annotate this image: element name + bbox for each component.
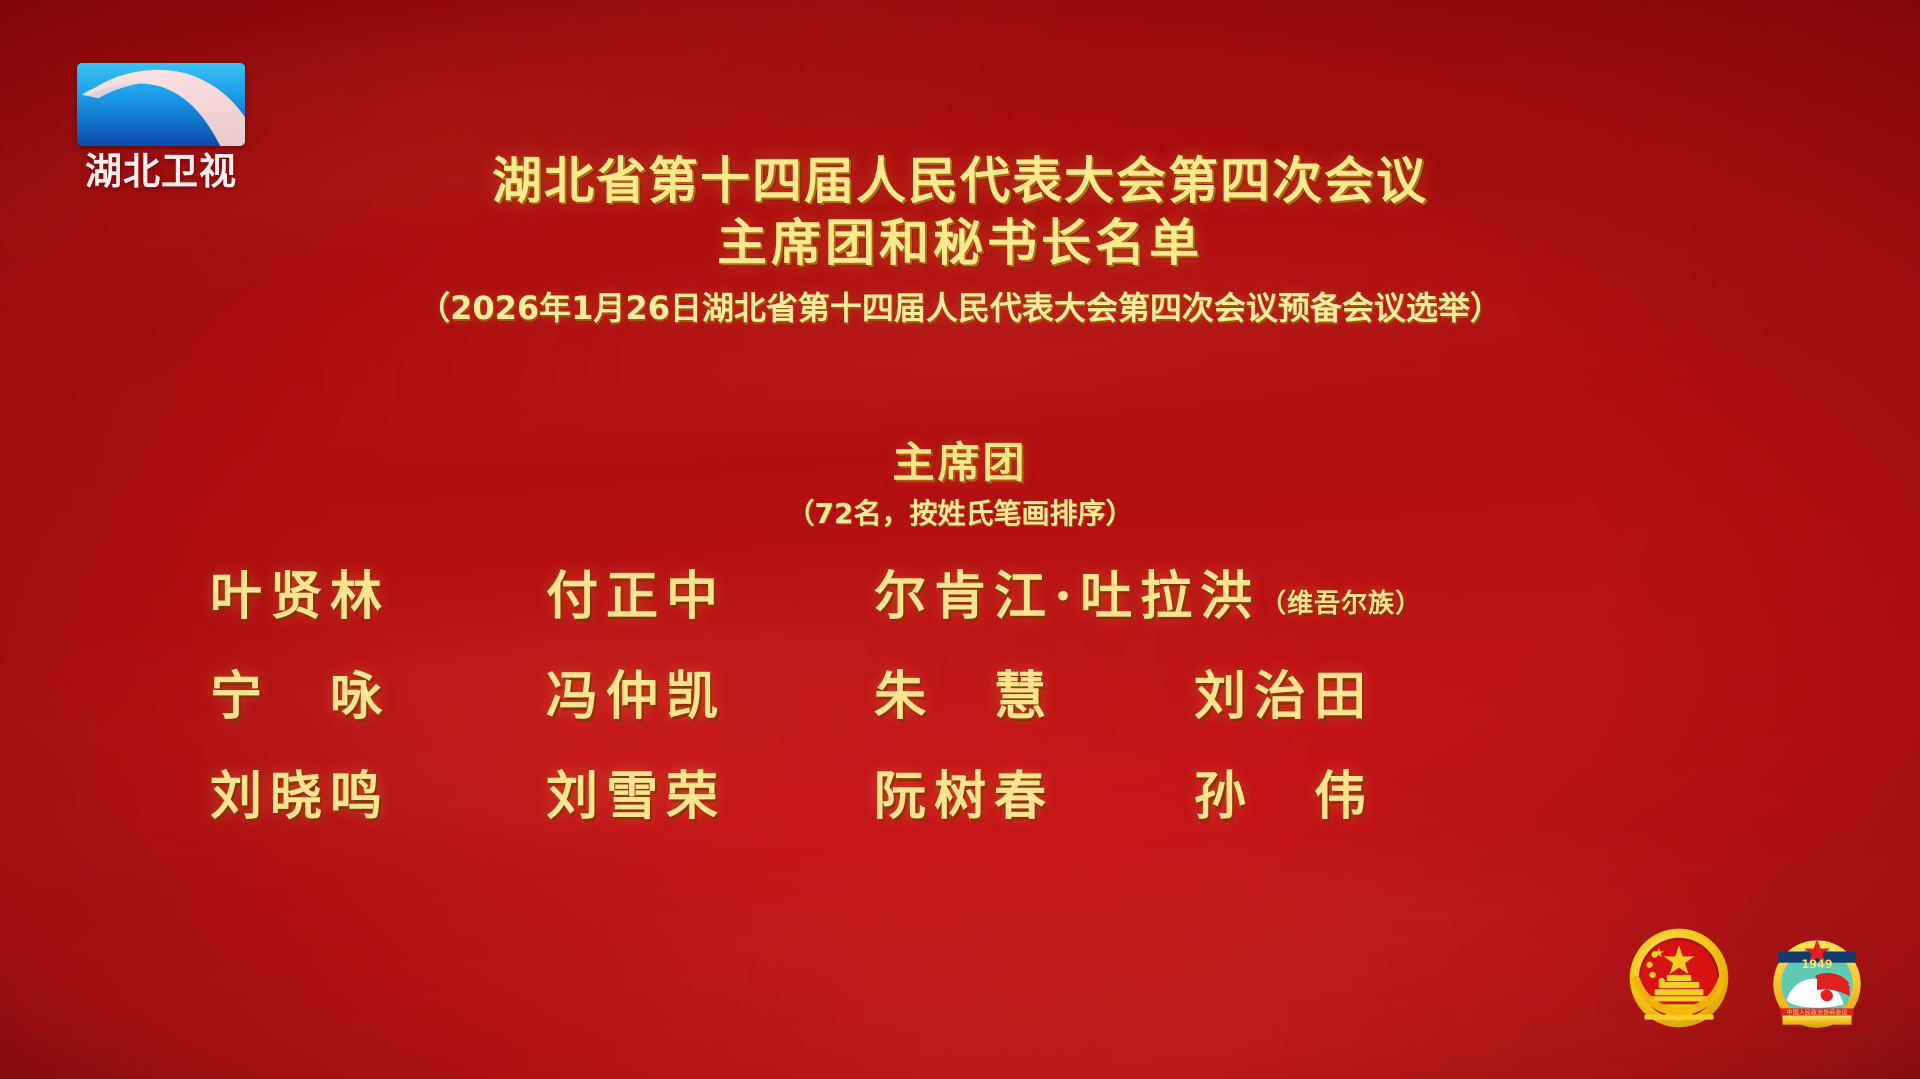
svg-text:1949: 1949 — [1801, 958, 1832, 971]
roster-name-text: 付正中 — [546, 566, 726, 627]
roster-name: 阮树春 — [874, 760, 1054, 834]
roster-name: 刘雪荣 — [546, 760, 726, 834]
section-heading-block: 主席团 （72名，按姓氏笔画排序） — [0, 438, 1920, 532]
roster-name: 宁 咏 — [210, 660, 390, 734]
roster-name-text: 刘治田 — [1194, 666, 1374, 727]
hubei-tv-river-logo-icon — [77, 63, 245, 146]
roster-row: 宁 咏冯仲凯朱 慧刘治田 — [210, 660, 1730, 760]
roster-name-text: 宁 咏 — [210, 666, 390, 727]
roster-name-text: 朱 慧 — [874, 666, 1054, 727]
broadcast-screen: 湖北卫视 湖北省第十四届人民代表大会第四次会议 主席团和秘书长名单 （2026年… — [0, 0, 1920, 1079]
roster-name: 叶贤林 — [210, 560, 390, 634]
title-line-2: 主席团和秘书长名单 — [0, 212, 1920, 274]
roster-name: 付正中 — [546, 560, 726, 634]
roster-name: 刘治田 — [1194, 660, 1374, 734]
roster-name-text: 阮树春 — [874, 766, 1054, 827]
roster-name-text: 刘晓鸣 — [210, 766, 390, 827]
roster-name-text: 尔肯江·吐拉洪 — [874, 566, 1260, 627]
section-title: 主席团 — [0, 438, 1920, 488]
section-note: （72名，按姓氏笔画排序） — [0, 496, 1920, 532]
headline-block: 湖北省第十四届人民代表大会第四次会议 主席团和秘书长名单 （2026年1月26日… — [0, 150, 1920, 328]
roster-row: 叶贤林付正中尔肯江·吐拉洪（维吾尔族） — [210, 560, 1730, 660]
roster-name: 朱 慧 — [874, 660, 1054, 734]
svg-text:中国人民政治协商会议: 中国人民政治协商会议 — [1787, 1009, 1848, 1017]
roster-name-text: 冯仲凯 — [546, 666, 726, 727]
headline-subtitle: （2026年1月26日湖北省第十四届人民代表大会第四次会议预备会议选举） — [0, 288, 1920, 328]
roster-name: 尔肯江·吐拉洪（维吾尔族） — [874, 560, 1422, 641]
roster-name-text: 叶贤林 — [210, 566, 390, 627]
national-emblem-of-china-icon — [1618, 921, 1740, 1043]
roster-name: 孙 伟 — [1194, 760, 1374, 834]
name-roster: 叶贤林付正中尔肯江·吐拉洪（维吾尔族）宁 咏冯仲凯朱 慧刘治田刘晓鸣刘雪荣阮树春… — [210, 560, 1730, 860]
roster-name-text: 刘雪荣 — [546, 766, 726, 827]
roster-name-ethnicity: （维吾尔族） — [1260, 589, 1422, 619]
roster-row: 刘晓鸣刘雪荣阮树春孙 伟 — [210, 760, 1730, 860]
roster-name-text: 孙 伟 — [1194, 766, 1374, 827]
roster-name: 刘晓鸣 — [210, 760, 390, 834]
title-line-1: 湖北省第十四届人民代表大会第四次会议 — [0, 150, 1920, 212]
cppcc-emblem-icon: 1949 中国人民政治协商会议 — [1756, 921, 1878, 1043]
emblem-group: 1949 中国人民政治协商会议 — [1618, 921, 1878, 1043]
roster-name: 冯仲凯 — [546, 660, 726, 734]
